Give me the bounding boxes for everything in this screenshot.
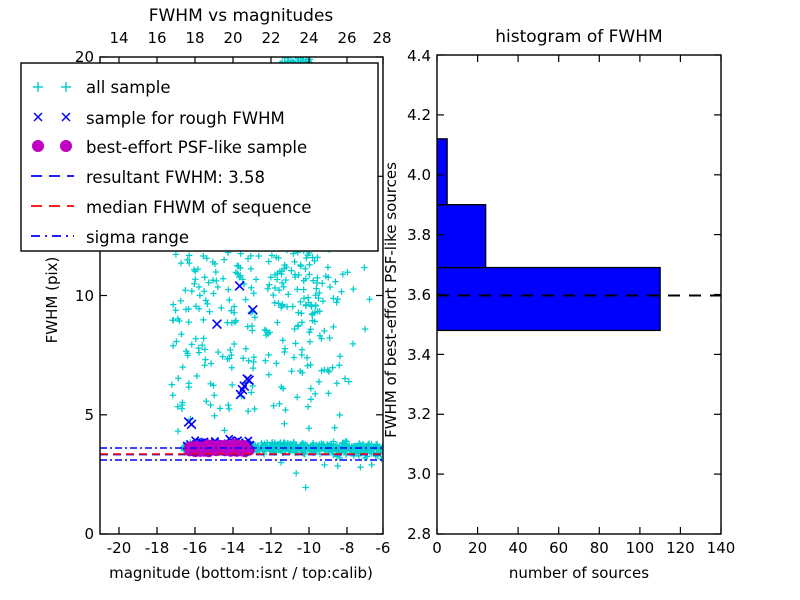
- tick-label: 18: [185, 29, 204, 47]
- tick-label: 120: [666, 539, 695, 557]
- histogram-bar: [437, 268, 660, 331]
- right-histogram-data: [437, 139, 721, 331]
- tick-label: 10: [75, 287, 94, 305]
- tick-label: 5: [84, 406, 94, 424]
- tick-label: 3.8: [407, 226, 431, 244]
- tick-label: 100: [626, 539, 655, 557]
- tick-label: 2.8: [407, 525, 431, 543]
- tick-label: 4.0: [407, 166, 431, 184]
- tick-label: 3.4: [407, 346, 431, 364]
- tick-label: 26: [337, 29, 356, 47]
- right-y-tick-labels: 2.8 3.0 3.2 3.4 3.6 3.8 4.0 4.2 4.4: [407, 47, 431, 543]
- right-x-axis-label: number of sources: [509, 564, 649, 582]
- tick-label: -6: [376, 539, 391, 557]
- tick-label: 24: [299, 29, 318, 47]
- tick-label: -16: [183, 539, 208, 557]
- tick-label: 0: [432, 539, 442, 557]
- tick-label: -10: [297, 539, 322, 557]
- tick-label: 20: [468, 539, 487, 557]
- right-panel-title: histogram of FWHM: [495, 27, 662, 47]
- left-panel: FWHM vs magnitudes 14 16 18 20 22 24 26 …: [21, 6, 392, 582]
- tick-label: -14: [221, 539, 246, 557]
- right-panel: histogram of FWHM: [382, 27, 735, 582]
- tick-label: 22: [261, 29, 280, 47]
- tick-label: 60: [549, 539, 568, 557]
- tick-label: 28: [372, 29, 391, 47]
- legend-label: median FHWM of sequence: [86, 198, 311, 217]
- left-bottom-tick-labels: -20 -18 -16 -14 -12 -10 -8 -6: [107, 539, 391, 557]
- histogram-bar: [437, 205, 486, 268]
- tick-label: 20: [223, 29, 242, 47]
- legend-box: [21, 63, 378, 251]
- plot-svg: FWHM vs magnitudes 14 16 18 20 22 24 26 …: [0, 0, 800, 600]
- left-top-tick-labels: 14 16 18 20 22 24 26 28: [109, 29, 391, 47]
- histogram-bar: [437, 139, 447, 205]
- tick-label: -8: [340, 539, 355, 557]
- tick-label: 140: [707, 539, 736, 557]
- legend-label: sample for rough FWHM: [86, 109, 285, 128]
- tick-label: -18: [145, 539, 170, 557]
- tick-label: 40: [509, 539, 528, 557]
- right-x-tick-labels: 0 20 40 60 80 100 120 140: [432, 539, 735, 557]
- figure-canvas: FWHM vs magnitudes 14 16 18 20 22 24 26 …: [0, 0, 800, 600]
- legend-label: resultant FWHM: 3.58: [86, 168, 265, 187]
- tick-label: -12: [259, 539, 284, 557]
- tick-label: 3.0: [407, 465, 431, 483]
- legend: all sample sample for rough FWHM best-ef…: [21, 63, 378, 251]
- tick-label: 3.6: [407, 286, 431, 304]
- left-panel-title: FWHM vs magnitudes: [149, 6, 334, 26]
- tick-label: 16: [147, 29, 166, 47]
- tick-label: 4.4: [407, 47, 431, 65]
- legend-label: best-effort PSF-like sample: [86, 138, 307, 157]
- tick-label: 4.2: [407, 106, 431, 124]
- tick-label: 80: [590, 539, 609, 557]
- legend-label: sigma range: [86, 228, 189, 247]
- legend-label: all sample: [86, 78, 171, 97]
- left-x-axis-label: magnitude (bottom:isnt / top:calib): [109, 564, 373, 582]
- left-y-axis-label: FWHM (pix): [43, 257, 61, 344]
- tick-label: -20: [107, 539, 132, 557]
- right-y-axis-label: FWHM of best-effort PSF-like sources: [382, 162, 400, 438]
- tick-label: 14: [109, 29, 128, 47]
- tick-label: 3.2: [407, 405, 431, 423]
- tick-label: 0: [84, 525, 94, 543]
